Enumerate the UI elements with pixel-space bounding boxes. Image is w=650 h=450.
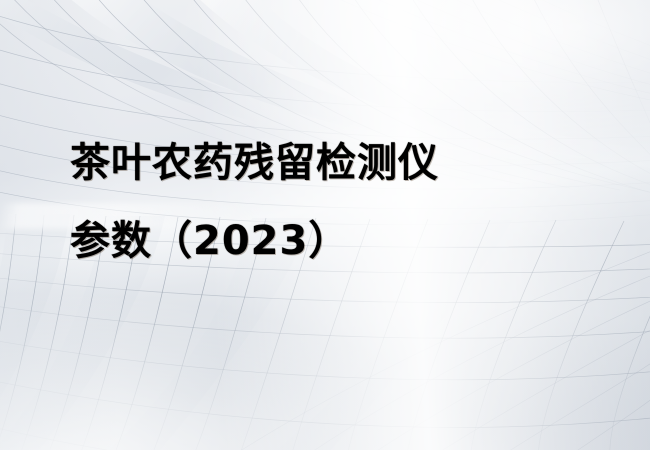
title-line-2: 参数（2023） — [70, 202, 590, 280]
title-banner: 茶叶农药残留检测仪 参数（2023） — [0, 0, 650, 450]
title-line-1: 茶叶农药残留检测仪 — [70, 124, 590, 202]
page-title: 茶叶农药残留检测仪 参数（2023） — [70, 124, 590, 280]
